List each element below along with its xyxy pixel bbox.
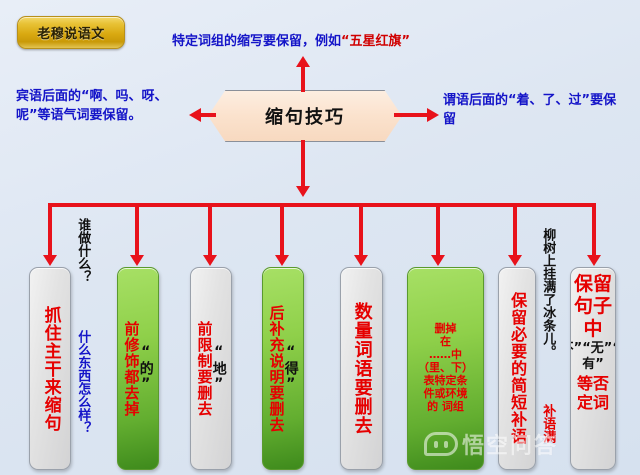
branch-4 xyxy=(280,203,284,255)
arrowhead-branch-8-icon xyxy=(587,255,601,266)
callout-left: 宾语后面的“啊、吗、呀、呢”等语气词要保留。 xyxy=(16,88,196,126)
box-keep-negation[interactable]: 保留句子中 “不”“无”“没有” 等否定词 xyxy=(570,267,616,470)
brand-badge-label: 老穆说语文 xyxy=(37,23,105,42)
box-de-complement-keyword: “得” xyxy=(284,344,298,393)
wukong-logo-icon xyxy=(424,432,458,456)
box-grasp-main-stem[interactable]: 抓住主干来缩句 xyxy=(29,267,71,470)
connector-right xyxy=(394,113,428,117)
arrowhead-branch-4-icon xyxy=(275,255,289,266)
annotation-willow-black: 柳树上挂满了冰条儿。 xyxy=(540,228,554,403)
box-di-restrictive-label: 前限制要删去 xyxy=(196,321,211,417)
branch-8 xyxy=(592,203,596,255)
arrowhead-branch-6-icon xyxy=(431,255,445,266)
arrowhead-left-icon xyxy=(189,108,201,122)
annotation-who-does-what-black: 谁做什么？ xyxy=(75,218,89,328)
watermark: 悟空问答 xyxy=(424,428,558,460)
central-node-label: 缩句技巧 xyxy=(265,103,345,129)
arrowhead-trunk-icon xyxy=(296,186,310,197)
brand-badge: 老穆说语文 xyxy=(17,16,125,49)
callout-top: 特定词组的缩写要保留，例如“五星红旗” xyxy=(172,33,472,52)
box-de-complement[interactable]: 后补充说明要删去 “得” xyxy=(262,267,304,470)
central-node: 缩句技巧 xyxy=(208,90,402,142)
box-grasp-main-stem-label: 抓住主干来缩句 xyxy=(41,306,58,432)
box-di-restrictive-keyword: “地” xyxy=(212,344,226,393)
connector-left xyxy=(200,113,216,117)
branch-5 xyxy=(359,203,363,255)
box-de-complement-label: 后补充说明要删去 xyxy=(268,305,283,433)
callout-top-text: 特定词组的缩写要保留，例如 xyxy=(172,34,341,49)
arrowhead-branch-5-icon xyxy=(354,255,368,266)
connector-trunk xyxy=(301,140,305,186)
branch-1 xyxy=(48,203,52,255)
box-delete-in-phrase-label: 删掉 在 ……中 （里、下） 表特定条 件或环境 的 词组 xyxy=(418,323,473,414)
box-keep-negation-bottom: 等否定词 xyxy=(571,375,615,413)
mindmap-canvas: 老穆说语文 特定词组的缩写要保留，例如“五星红旗” 宾语后面的“啊、吗、呀、呢”… xyxy=(0,0,640,475)
branch-6 xyxy=(436,203,440,255)
box-quantity-words-label: 数量词语要删去 xyxy=(352,302,370,435)
branch-3 xyxy=(208,203,212,255)
connector-up xyxy=(301,66,305,92)
box-de-modifier-keyword: “的” xyxy=(139,344,153,393)
box-de-modifier[interactable]: 前修饰都去掉 “的” xyxy=(117,267,159,470)
box-quantity-words[interactable]: 数量词语要删去 xyxy=(340,267,383,470)
arrowhead-branch-1-icon xyxy=(43,255,57,266)
box-keep-negation-top: 保留句子中 xyxy=(571,273,615,340)
branch-2 xyxy=(135,203,139,255)
arrowhead-branch-2-icon xyxy=(130,255,144,266)
arrowhead-up-icon xyxy=(296,56,310,67)
callout-right: 谓语后面的“着、了、过”要保留 xyxy=(443,92,628,130)
box-de-modifier-label: 前修饰都去掉 xyxy=(123,321,138,417)
arrowhead-right-icon xyxy=(427,108,439,122)
callout-top-highlight: “五星红旗” xyxy=(341,34,410,49)
arrowhead-branch-3-icon xyxy=(203,255,217,266)
watermark-text: 悟空问答 xyxy=(462,428,558,460)
box-keep-short-complement-label: 保留必要的简短补语 xyxy=(509,292,525,445)
box-di-restrictive[interactable]: 前限制要删去 “地” xyxy=(190,267,232,470)
arrowhead-branch-7-icon xyxy=(508,255,522,266)
box-keep-negation-mid: “不”“无”“没有” xyxy=(570,341,616,374)
branch-7 xyxy=(513,203,517,255)
annotation-who-does-what-blue: 什么东西怎么样？ xyxy=(75,330,89,470)
